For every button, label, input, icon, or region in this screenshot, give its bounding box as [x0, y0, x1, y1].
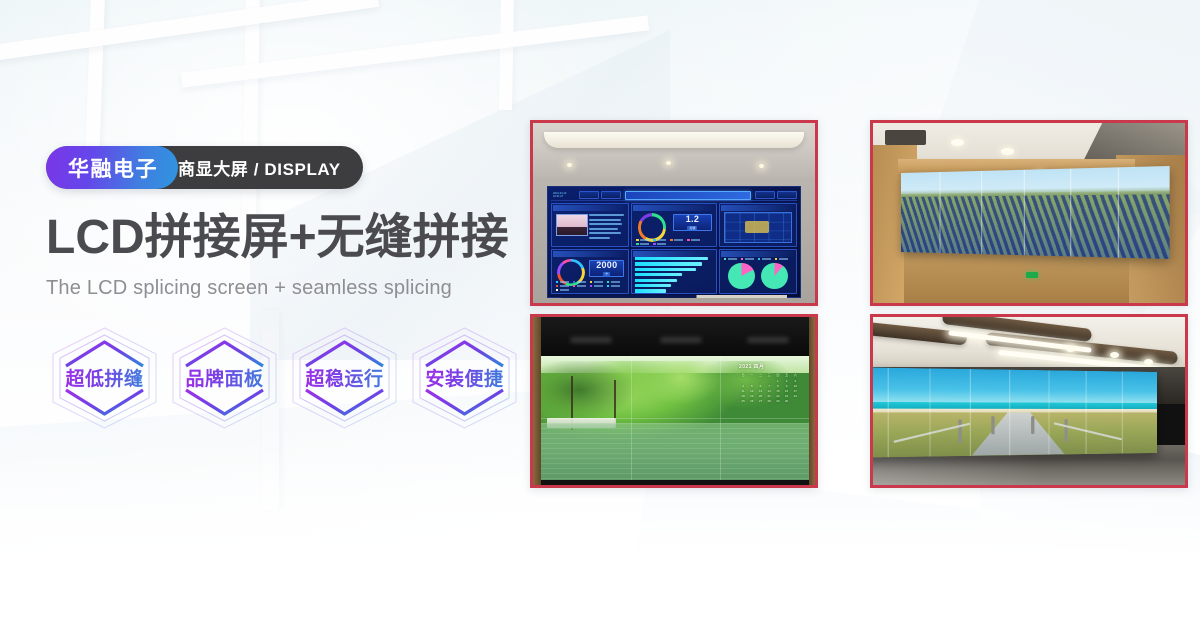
- feature-badge-row: 超低拼缝 品牌面板 超稳运行: [46, 322, 546, 434]
- chart-legend: [556, 281, 624, 292]
- pie-chart-group: [724, 263, 791, 289]
- brand-pill[interactable]: 华融电子 商显大屏 / DISPLAY: [46, 146, 363, 189]
- brand-name-label: 华融电子: [46, 146, 178, 189]
- photo-scene: 2021-04-13 16:01:27: [533, 123, 815, 303]
- boardwalk-post: [991, 416, 994, 435]
- calendar-day: 18: [739, 394, 747, 398]
- dashboard-title-bar: [625, 191, 751, 200]
- photo-scene: 2021 四月 日 一 二 三 四 五 六 123456789101112131…: [533, 317, 815, 485]
- dashboard-topbar: 2021-04-13 16:01:27: [551, 190, 797, 201]
- calendar-day: 17: [791, 389, 799, 393]
- calendar-day: 12: [748, 389, 756, 393]
- dashboard-card-overview: [551, 203, 629, 247]
- card-header: [553, 251, 627, 257]
- panel-glow: [570, 337, 612, 343]
- big-number-panel: 2000 个: [589, 260, 624, 277]
- feature-badge-1[interactable]: 超低拼缝: [46, 322, 163, 434]
- photo-scene: [873, 317, 1185, 485]
- calendar-day: 24: [791, 394, 799, 398]
- big-number-unit: 个: [603, 272, 610, 277]
- dashboard-card-pie-charts: [719, 249, 797, 293]
- feature-badge-4[interactable]: 安装便捷: [406, 322, 523, 434]
- feature-badge-2-label: 品牌面板: [185, 364, 263, 391]
- ceiling-downlight: [1066, 346, 1075, 352]
- photo-willow-lake-video-wall[interactable]: 2021 四月 日 一 二 三 四 五 六 123456789101112131…: [530, 314, 818, 488]
- page-title: LCD拼接屏+无缝拼接: [46, 213, 546, 264]
- calendar-weekday: 三: [765, 373, 773, 377]
- dashboard-tab: [755, 191, 775, 199]
- chart-legend: [724, 258, 792, 261]
- calendar-day-grid: 1234567891011121314151617181920212223242…: [739, 379, 799, 403]
- dashboard-timestamp: 2021-04-13 16:01:27: [551, 192, 577, 198]
- calendar-day: 27: [756, 399, 764, 403]
- dashboard-card-flow-diagram: [719, 203, 797, 247]
- lake-water: [541, 423, 809, 480]
- pie-chart: [761, 263, 788, 290]
- exit-sign-icon: [1026, 272, 1038, 278]
- calendar-day: 20: [756, 394, 764, 398]
- feature-badge-1-label: 超低拼缝: [65, 364, 143, 391]
- calendar-overlay: 2021 四月 日 一 二 三 四 五 六 123456789101112131…: [737, 362, 801, 412]
- video-wall-screen: 2021 四月 日 一 二 三 四 五 六 123456789101112131…: [541, 356, 809, 480]
- ceiling-vent: [885, 130, 926, 144]
- calendar-day: 5: [748, 384, 756, 388]
- calendar-weekday: 一: [748, 373, 756, 377]
- calendar-day: 26: [748, 399, 756, 403]
- calendar-weekday: 六: [791, 373, 799, 377]
- dashboard-card-donut-kpi: 1.2 万项: [631, 203, 717, 247]
- calendar-weekday: 二: [756, 373, 764, 377]
- dashboard-tab: [579, 191, 599, 199]
- card-thumbnail: [556, 214, 588, 236]
- ceiling-spotlight: [666, 161, 671, 165]
- flow-diagram: [724, 212, 792, 242]
- calendar-day: 14: [765, 389, 773, 393]
- dashboard-screen: 2021-04-13 16:01:27: [547, 186, 801, 298]
- feature-badge-3[interactable]: 超稳运行: [286, 322, 403, 434]
- calendar-day: 16: [782, 389, 790, 393]
- wall-frame-right: [809, 317, 815, 485]
- card-header: [721, 251, 795, 257]
- bar-chart: [635, 257, 712, 291]
- pie-chart: [728, 263, 755, 290]
- promo-banner: 华融电子 商显大屏 / DISPLAY LCD拼接屏+无缝拼接 The LCD …: [0, 0, 1200, 640]
- ceiling-cove: [544, 132, 803, 148]
- photo-scene: [873, 123, 1185, 303]
- calendar-weekday: 日: [739, 373, 747, 377]
- card-header: [633, 205, 715, 211]
- panel-glow: [660, 337, 702, 343]
- calendar-day: 4: [739, 384, 747, 388]
- photo-beach-boardwalk-video-wall[interactable]: [870, 314, 1188, 488]
- calendar-day: 9: [782, 384, 790, 388]
- video-wall-screen: [870, 368, 1157, 458]
- calendar-title: 2021 四月: [739, 364, 799, 371]
- calendar-day: 30: [782, 399, 790, 403]
- video-wall-screen: [901, 166, 1169, 259]
- dashboard-tab: [601, 191, 621, 199]
- calendar-day: 23: [782, 394, 790, 398]
- calendar-day: 22: [774, 394, 782, 398]
- dashboard-card-bar-chart: [631, 249, 717, 293]
- dashboard-card-region-stats: 2000 个: [551, 249, 629, 293]
- calendar-day: 21: [765, 394, 773, 398]
- feature-badge-3-label: 超稳运行: [305, 364, 383, 391]
- kpi-panel: 1.2 万项: [673, 214, 712, 231]
- ceiling-spotlight: [567, 163, 572, 167]
- calendar-day: 10: [791, 384, 799, 388]
- feature-badge-2[interactable]: 品牌面板: [166, 322, 283, 434]
- dashboard-tab: [777, 191, 797, 199]
- card-header: [553, 205, 627, 211]
- panel-glow: [747, 337, 789, 343]
- boardwalk-post: [1065, 419, 1068, 442]
- card-header: [721, 205, 795, 211]
- chart-legend: [636, 239, 711, 246]
- donut-chart: [638, 213, 666, 241]
- solar-panel-array: [901, 194, 1169, 259]
- card-text-lines: [589, 214, 625, 241]
- photo-control-room-dashboard[interactable]: 2021-04-13 16:01:27: [530, 120, 818, 306]
- calendar-day: [791, 399, 799, 403]
- kpi-unit: 万项: [687, 226, 697, 231]
- brand-category-label: 商显大屏 / DISPLAY: [162, 146, 363, 189]
- calendar-weekday-row: 日 一 二 三 四 五 六: [739, 373, 799, 377]
- calendar-day: 25: [739, 399, 747, 403]
- calendar-day: 15: [774, 389, 782, 393]
- calendar-day: 19: [748, 394, 756, 398]
- page-subtitle: The LCD splicing screen + seamless splic…: [46, 277, 546, 300]
- calendar-day: 28: [765, 399, 773, 403]
- photo-solar-farm-video-wall[interactable]: [870, 120, 1188, 306]
- calendar-day: 11: [739, 389, 747, 393]
- dashboard-grid: 1.2 万项: [551, 203, 797, 294]
- banner-text-column: 华融电子 商显大屏 / DISPLAY LCD拼接屏+无缝拼接 The LCD …: [46, 146, 546, 434]
- calendar-day: 29: [774, 399, 782, 403]
- calendar-day: 8: [774, 384, 782, 388]
- calendar-weekday: 四: [774, 373, 782, 377]
- wall-frame-left: [533, 317, 541, 485]
- big-number-value: 2000: [596, 261, 617, 270]
- boardwalk-post: [1031, 416, 1034, 435]
- kpi-value: 1.2: [686, 215, 699, 224]
- calendar-day: 13: [756, 389, 764, 393]
- calendar-weekday: 五: [782, 373, 790, 377]
- feature-badge-4-label: 安装便捷: [425, 364, 503, 391]
- screen-taskbar: [561, 295, 788, 298]
- background-beam-vertical-3: [499, 0, 514, 110]
- calendar-day: 7: [765, 384, 773, 388]
- calendar-day: 6: [756, 384, 764, 388]
